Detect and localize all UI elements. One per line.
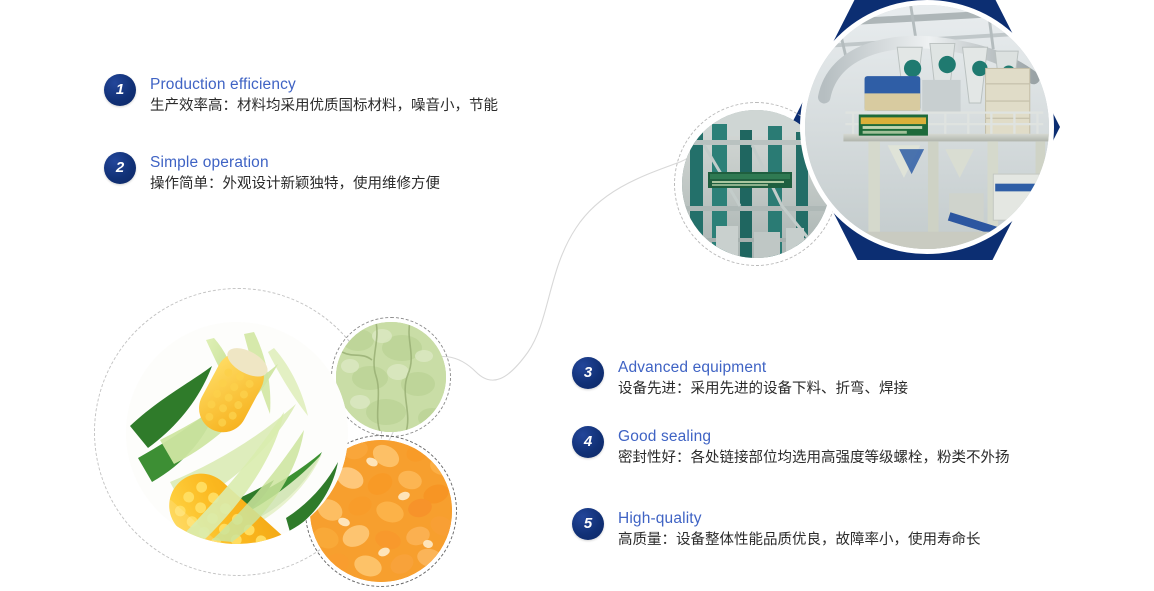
feature-text-2: Simple operation 操作简单：外观设计新颖独特，使用维修方便 <box>150 152 440 195</box>
feature-description-1: 生产效率高：材料均采用优质国标材料，噪音小，节能 <box>150 95 498 117</box>
corn-cob-photo <box>126 322 348 544</box>
feature-description-4: 密封性好：各处链接部位均选用高强度等级螺栓，粉类不外扬 <box>618 447 1010 469</box>
feature-title-5: High-quality <box>618 509 981 528</box>
feature-title-1: Production efficiency <box>150 75 498 94</box>
feature-number-badge-3: 3 <box>572 357 604 389</box>
feature-title-4: Good sealing <box>618 427 1010 446</box>
feature-text-3: Advanced equipment 设备先进：采用先进的设备下料、折弯、焊接 <box>618 357 908 400</box>
feature-highlight-page: 1 Production efficiency 生产效率高：材料均采用优质国标材… <box>0 0 1154 591</box>
feature-description-5: 高质量：设备整体性能品质优良，故障率小，使用寿命长 <box>618 529 981 551</box>
feature-description-3: 设备先进：采用先进的设备下料、折弯、焊接 <box>618 378 908 400</box>
feature-title-2: Simple operation <box>150 153 440 172</box>
corn-paste-photo <box>336 322 446 432</box>
feature-item-2: 2 Simple operation 操作简单：外观设计新颖独特，使用维修方便 <box>104 152 440 195</box>
feature-title-3: Advanced equipment <box>618 358 908 377</box>
flour-milling-plant-photo <box>800 0 1054 254</box>
feature-text-5: High-quality 高质量：设备整体性能品质优良，故障率小，使用寿命长 <box>618 508 981 551</box>
feature-item-1: 1 Production efficiency 生产效率高：材料均采用优质国标材… <box>104 74 498 117</box>
feature-text-4: Good sealing 密封性好：各处链接部位均选用高强度等级螺栓，粉类不外扬 <box>618 426 1010 469</box>
feature-number-badge-1: 1 <box>104 74 136 106</box>
feature-text-1: Production efficiency 生产效率高：材料均采用优质国标材料，… <box>150 74 498 117</box>
feature-number-badge-5: 5 <box>572 508 604 540</box>
feature-description-2: 操作简单：外观设计新颖独特，使用维修方便 <box>150 173 440 195</box>
machinery-image-cluster <box>660 0 1154 284</box>
feature-number-badge-4: 4 <box>572 426 604 458</box>
feature-item-5: 5 High-quality 高质量：设备整体性能品质优良，故障率小，使用寿命长 <box>572 508 981 551</box>
feature-number-badge-2: 2 <box>104 152 136 184</box>
feature-item-3: 3 Advanced equipment 设备先进：采用先进的设备下料、折弯、焊… <box>572 357 908 400</box>
corn-image-cluster <box>88 282 488 591</box>
feature-item-4: 4 Good sealing 密封性好：各处链接部位均选用高强度等级螺栓，粉类不… <box>572 426 1010 469</box>
